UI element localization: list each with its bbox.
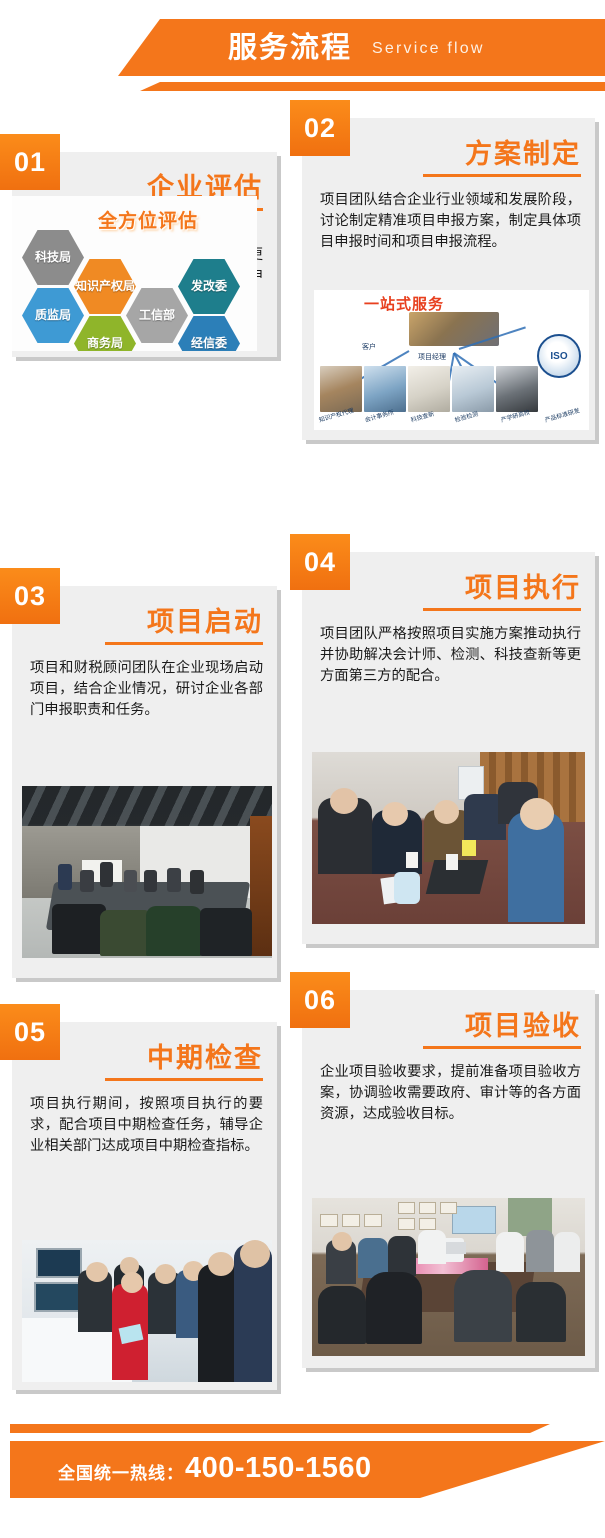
hex-node-zhijian-ju: 质监局 (22, 288, 84, 343)
hex-node-label: 科技局 (35, 251, 71, 264)
one-stop-label-customer: 客户 (362, 342, 376, 352)
title-underline-05 (105, 1078, 263, 1081)
hex-node-shangwu-ju: 商务局 (74, 316, 136, 351)
step-title-06: 项目验收 (302, 1004, 581, 1043)
header-accent-line (140, 82, 605, 91)
step-description-02: 项目团队结合企业行业领域和发展阶段，讨论制定精准项目申报方案，制定具体项目申报时… (320, 190, 581, 253)
hex-node-zscq-ju: 知识产权局 (74, 259, 136, 314)
hex-node-label: 质监局 (35, 309, 71, 322)
iso-seal-icon: ISO (537, 334, 581, 378)
page-title: 服务流程 (228, 27, 352, 67)
photo-acceptance-meeting (312, 1198, 585, 1356)
step-title-05: 中期检查 (12, 1036, 263, 1075)
iso-seal-text: ISO (550, 351, 567, 362)
step-description-03: 项目和财税顾问团队在企业现场启动项目，结合企业情况，研讨企业各部门申报职责和任务… (30, 658, 263, 721)
one-stop-service-label-5: 产品标准研发 (544, 405, 581, 424)
hotline-number[interactable]: 400-150-1560 (185, 1452, 372, 1485)
hex-diagram-title: 全方位评估 (98, 206, 198, 233)
page-subtitle: Service flow (372, 36, 485, 62)
step-card-04: 04 项目执行 项目团队严格按照项目实施方案推动执行并协助解决会计师、检测、科技… (302, 552, 595, 944)
title-underline-02 (423, 174, 581, 177)
thumb-tech-search (408, 366, 450, 412)
page-header: 服务流程 Service flow (0, 0, 605, 108)
step-title-03: 项目启动 (12, 600, 263, 639)
hex-node-label: 经信委 (191, 337, 227, 350)
hex-node-gongxin-bu: 工信部 (126, 288, 188, 343)
hex-node-label: 工信部 (139, 309, 175, 322)
header-banner-shape (118, 19, 605, 76)
step-title-02: 方案制定 (302, 132, 581, 171)
hotline-label: 全国统一热线： (58, 1459, 184, 1484)
photo-conference-room (22, 786, 272, 958)
title-underline-03 (105, 642, 263, 645)
service-flow-infographic: 服务流程 Service flow 01 企业评估 项目团队拥有10年以上服务经… (0, 0, 605, 1538)
step-card-03: 03 项目启动 项目和财税顾问团队在企业现场启动项目，结合企业情况，研讨企业各部… (12, 586, 277, 978)
photo-working-meeting (312, 752, 585, 924)
hex-assessment-diagram: 全方位评估 科技局 质监局 知识产权局 商务局 工信部 发改委 经信委 (12, 196, 257, 351)
thumb-university (496, 366, 538, 412)
thumb-ip-agency (320, 366, 362, 412)
step-card-05: 05 中期检查 项目执行期间，按照项目执行的要求，配合项目中期检查任务，辅导企业… (12, 1022, 277, 1390)
step-card-06: 06 项目验收 企业项目验收要求，提前准备项目验收方案，协调验收需要政府、审计等… (302, 990, 595, 1368)
hex-node-label: 发改委 (191, 280, 227, 293)
page-footer: 全国统一热线： 400-150-1560 (0, 1420, 605, 1520)
hex-node-jingxin-wei: 经信委 (178, 316, 240, 351)
hex-node-keji-ju: 科技局 (22, 230, 84, 285)
title-underline-06 (423, 1046, 581, 1049)
step-description-04: 项目团队严格按照项目实施方案推动执行并协助解决会计师、检测、科技查新等更方面第三… (320, 624, 581, 687)
step-title-04: 项目执行 (302, 566, 581, 605)
footer-accent-line (10, 1424, 550, 1433)
photo-site-visit (22, 1240, 272, 1382)
step-card-02: 02 方案制定 项目团队结合企业行业领域和发展阶段，讨论制定精准项目申报方案，制… (302, 118, 595, 440)
thumb-inspection (452, 366, 494, 412)
title-underline-04 (423, 608, 581, 611)
one-stop-title: 一站式服务 (364, 293, 444, 314)
step-description-05: 项目执行期间，按照项目执行的要求，配合项目中期检查任务，辅导企业相关部门达成项目… (30, 1094, 263, 1157)
hex-node-fagai-wei: 发改委 (178, 259, 240, 314)
hex-node-label: 知识产权局 (75, 280, 135, 293)
hex-node-label: 商务局 (87, 337, 123, 350)
thumb-accounting (364, 366, 406, 412)
step-description-06: 企业项目验收要求，提前准备项目验收方案，协调验收需要政府、审计等的各方面资源，达… (320, 1062, 581, 1125)
one-stop-service-diagram: 一站式服务 客户 项目经理 ISO 知识产权代理 会计事务所 科技查新 检验检测… (314, 290, 589, 430)
one-stop-label-pm: 项目经理 (418, 352, 446, 362)
